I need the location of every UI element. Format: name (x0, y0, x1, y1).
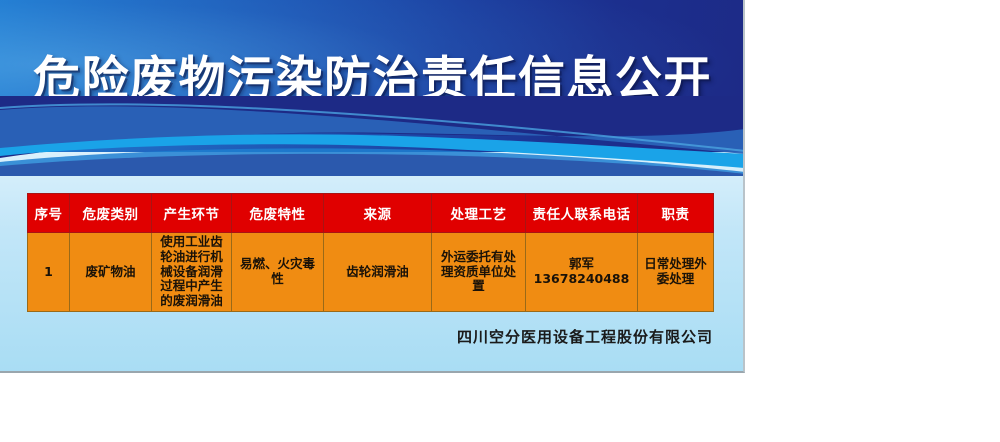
column-header-index: 序号 (28, 194, 70, 233)
wave-deep-accent (0, 154, 745, 176)
poster-title-container: 危险废物污染防治责任信息公开 (0, 0, 745, 152)
cell-source: 齿轮润滑油 (324, 233, 432, 312)
responsible-person-name: 郭军 (529, 257, 634, 272)
column-header-contact: 责任人联系电话 (526, 194, 638, 233)
column-header-characteristics: 危废特性 (232, 194, 324, 233)
responsible-person-phone: 13678240488 (529, 272, 634, 287)
column-header-source: 来源 (324, 194, 432, 233)
cell-index: 1 (28, 233, 70, 312)
column-header-category: 危废类别 (70, 194, 152, 233)
cell-treatment-process: 外运委托有处理资质单位处置 (432, 233, 526, 312)
cell-duty: 日常处理外委处理 (638, 233, 714, 312)
cell-characteristics: 易燃、火灾毒性 (232, 233, 324, 312)
screenshot-root: 危险废物污染防治责任信息公开 (0, 0, 1000, 442)
poster-title: 危险废物污染防治责任信息公开 (33, 40, 712, 109)
hazardous-waste-table-wrap: 序号 危废类别 产生环节 危废特性 来源 处理工艺 责任人联系电话 职责 1 废… (27, 193, 713, 312)
table-header-row: 序号 危废类别 产生环节 危废特性 来源 处理工艺 责任人联系电话 职责 (28, 194, 714, 233)
poster-header-band: 危险废物污染防治责任信息公开 (0, 0, 745, 152)
cell-category: 废矿物油 (70, 233, 152, 312)
table-row: 1 废矿物油 使用工业齿轮油进行机械设备润滑过程中产生的废润滑油 易燃、火灾毒性… (28, 233, 714, 312)
hazardous-waste-table: 序号 危废类别 产生环节 危废特性 来源 处理工艺 责任人联系电话 职责 1 废… (27, 193, 714, 312)
company-name: 四川空分医用设备工程股份有限公司 (0, 326, 713, 347)
cell-responsible-contact: 郭军 13678240488 (526, 233, 638, 312)
column-header-duty: 职责 (638, 194, 714, 233)
column-header-stage: 产生环节 (152, 194, 232, 233)
wave-blue-sweep (0, 148, 745, 176)
column-header-treatment: 处理工艺 (432, 194, 526, 233)
cell-generation-stage: 使用工业齿轮油进行机械设备润滑过程中产生的废润滑油 (152, 233, 232, 312)
information-disclosure-poster: 危险废物污染防治责任信息公开 (0, 0, 745, 373)
